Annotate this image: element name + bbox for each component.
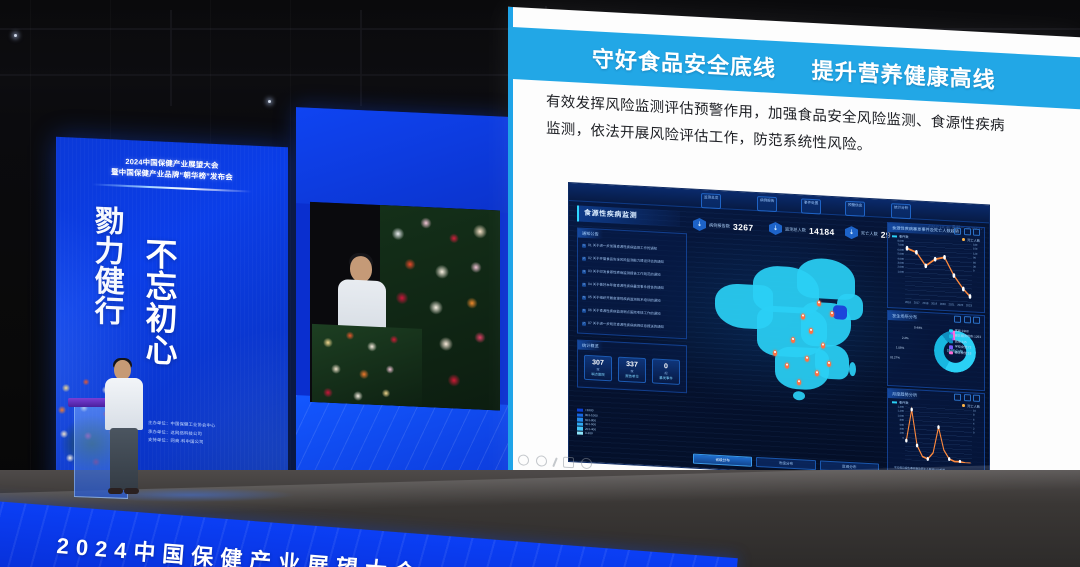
trend-y-axis: 8,000 7,000 6,000 5,000 4,000 3,000 2,00…	[891, 239, 904, 275]
venue-donut-title: 发生场所分布	[888, 311, 921, 322]
notice-panel: 通知公告 101 关于进一步加强食源性疾病监测工作的通知 202 关于开展食品安…	[577, 227, 687, 339]
trend-point	[934, 257, 937, 262]
stat-label-0: 哨点医院	[585, 371, 611, 378]
dashboard-title: 食源性疾病监测	[577, 205, 680, 226]
legend-line-swatch	[892, 235, 897, 237]
slide-title: 守好食品安全底线 提升营养健康高线	[592, 41, 996, 95]
donut-pct-2: 2.2%	[902, 336, 909, 340]
stat-card-1: 337 家 报告单位	[618, 357, 646, 383]
legend-swatch	[949, 335, 952, 339]
notice-item-text: 04 关于做好本年度食源性疾病暴发事件报告的通知	[588, 282, 664, 290]
monthly-point	[959, 460, 961, 464]
legend-label: 事件数	[899, 400, 909, 406]
map-marker[interactable]	[815, 370, 819, 376]
stat-card-2: 0 起 暴发事件	[652, 358, 680, 384]
trend-line	[907, 248, 970, 296]
kpi-2: ⇣ 死亡人数 29	[845, 226, 891, 241]
y2-tick: 0	[973, 432, 981, 437]
legend-swatch	[577, 427, 583, 431]
eraser-icon[interactable]	[563, 457, 574, 469]
monthly-line-svg	[905, 406, 972, 464]
monthly-point	[916, 443, 918, 447]
map-marker[interactable]	[805, 356, 809, 362]
feed-bouquet	[312, 324, 422, 407]
event-headline-line2: 暨中国保健产业品牌“朝华榜”发布会	[56, 164, 288, 186]
download-icon: ⇣	[769, 222, 782, 236]
speaker-shirt	[105, 378, 143, 430]
pointer-icon[interactable]	[518, 454, 529, 466]
expand-icon[interactable]	[954, 316, 961, 323]
legend-events: 事件数	[892, 399, 909, 405]
monthly-y2-axis: 10 8 6 4 2 0	[973, 410, 981, 437]
dashboard-chip-3[interactable]: 预警信息	[845, 201, 865, 217]
ceiling-truss-post	[170, 10, 172, 106]
feed-speaker-head	[350, 256, 372, 283]
legend-label: 0-200	[585, 431, 593, 436]
legend-dot-swatch	[962, 238, 965, 241]
map-marker[interactable]	[785, 363, 789, 369]
highlighter-icon[interactable]	[552, 457, 558, 467]
notice-item-text: 05 关于组织开展食源性疾病监测技术培训的通知	[588, 295, 661, 303]
x-tick: 2018	[922, 302, 928, 305]
donut-pct-3: 0.44%	[914, 325, 922, 329]
speaker-shoe	[124, 488, 139, 494]
screen-left-edge	[508, 7, 513, 501]
legend-swatch	[577, 408, 583, 412]
banner-line-1: 2024中国保健产业展望大会	[56, 528, 424, 567]
map-region	[815, 344, 849, 380]
map-marker[interactable]	[827, 361, 831, 367]
slide-title-part2: 提升营养健康高线	[812, 58, 996, 93]
venue-donut-legend: 家庭:1968 餐饮服务场所:1293 其他:115 学校食堂:72 集体食堂:…	[949, 328, 981, 357]
map-marker[interactable]	[809, 328, 813, 334]
expand-icon[interactable]	[954, 228, 961, 235]
stat-card-0: 307 家 哨点医院	[584, 355, 612, 381]
map-marker[interactable]	[817, 300, 821, 306]
event-slogan-column-2: 不忘初心	[144, 237, 173, 366]
notice-item-text: 02 关于开展食品安全风险监测能力建设评估的通知	[588, 256, 664, 264]
download-icon: ⇣	[845, 226, 858, 240]
download-icon[interactable]	[973, 229, 980, 236]
notice-item[interactable]: 505 关于组织开展食源性疾病监测技术培训的通知	[582, 294, 682, 305]
headline-divider	[92, 183, 252, 192]
legend-line-swatch	[892, 401, 897, 403]
trend-point	[953, 273, 956, 278]
event-headline-line1: 2024中国保健产业展望大会	[56, 153, 288, 175]
ceiling-light	[14, 34, 17, 37]
notice-item[interactable]: 303 关于印发食源性疾病监测报告工作规范的通知	[582, 268, 682, 279]
stats-panel: 统计概览 307 家 哨点医院 337 家 报告单位 0 起 暴发事件	[577, 339, 687, 393]
map-region-hainan	[793, 391, 805, 401]
donut-pct-0: 31.27%	[890, 355, 900, 360]
event-slogan-column-1: 勠力健行	[92, 204, 120, 325]
monthly-point	[910, 408, 912, 412]
event-headline: 2024中国保健产业展望大会 暨中国保健产业品牌“朝华榜”发布会	[56, 153, 288, 186]
organizer-line-2: 承办单位：这网络科技公司	[148, 427, 215, 439]
x-tick: 2021	[949, 303, 955, 306]
x-tick: 2022	[957, 304, 963, 307]
map-legend: >1000 801-1000 601-800 401-600 201-400 0…	[577, 408, 598, 437]
refresh-icon[interactable]	[964, 316, 971, 323]
stat-label-2: 暴发事件	[653, 374, 679, 381]
dashboard-chip-2[interactable]: 事件处置	[801, 198, 821, 214]
trend-line-svg	[905, 240, 972, 303]
legend-deaths: 死亡人数	[962, 237, 980, 243]
legend-events: 事件数	[892, 233, 909, 239]
legend-dot-swatch	[962, 404, 965, 407]
y-tick: 1,000	[891, 270, 904, 275]
trend-plot-area	[905, 240, 972, 303]
dashboard-chip-4[interactable]: 统计分析	[891, 203, 911, 219]
legend-swatch	[949, 340, 952, 344]
chart-tool-icons[interactable]	[954, 394, 980, 402]
map-marker[interactable]	[791, 337, 795, 343]
kpi-1: ⇣ 监测总人数 14184	[769, 222, 835, 238]
download-icon: ⇣	[693, 218, 706, 232]
china-map[interactable]	[697, 246, 885, 416]
conference-stage-photo: 2024中国保健产业展望大会 暨中国保健产业品牌“朝华榜”发布会 勠力健行 不忘…	[0, 0, 1080, 567]
legend-deaths: 死亡人数	[962, 403, 980, 409]
speaker-trousers	[110, 428, 138, 490]
x-tick: 2019	[931, 302, 937, 305]
trend-point	[943, 255, 946, 260]
trend-point	[906, 246, 909, 251]
monthly-line	[906, 409, 970, 463]
map-tab-city[interactable]: 市级分布	[756, 457, 815, 470]
map-marker[interactable]	[821, 342, 825, 348]
center-led-panel	[296, 107, 508, 497]
monthly-y-axis: 1,400 1,200 1,000 800 600 400 200 0	[891, 405, 904, 441]
banner-line-2: 暨中国保健产业品牌	[19, 561, 264, 567]
kpi-label-0: 病例报告数	[709, 222, 730, 229]
kpi-label-2: 死亡人数	[861, 230, 878, 237]
legend-label: 集体食堂:18	[955, 350, 972, 356]
map-tab-province[interactable]: 省级分布	[693, 454, 752, 467]
legend-swatch	[949, 345, 952, 349]
refresh-icon[interactable]	[964, 394, 971, 401]
kpi-label-1: 监测总人数	[785, 226, 806, 233]
dashboard-chip-0[interactable]: 监测总览	[701, 193, 721, 209]
legend-label: 事件数	[899, 234, 909, 240]
notice-item-text: 01 关于进一步加强食源性疾病监测工作的通知	[588, 243, 657, 251]
stats-panel-header: 统计概览	[578, 340, 603, 350]
legend-swatch	[577, 413, 583, 417]
chart-tool-icons[interactable]	[954, 228, 980, 236]
trend-y2-axis: 180 150 120 90 60 30 0	[973, 244, 981, 275]
notice-item[interactable]: 202 关于开展食品安全风险监测能力建设评估的通知	[582, 255, 682, 266]
legend-swatch	[949, 329, 952, 333]
notice-item[interactable]: 404 关于做好本年度食源性疾病暴发事件报告的通知	[582, 281, 682, 292]
notice-item[interactable]: 606 关于食源性疾病监测哨点医院考核工作的通知	[582, 307, 682, 318]
refresh-icon[interactable]	[964, 228, 971, 235]
legend-swatch	[577, 418, 583, 422]
monthly-point	[905, 439, 907, 443]
x-tick: 2020	[940, 303, 946, 306]
monthly-chart-panel: 月度趋势分析 事件数 死亡人数 1,400 1,200 1,000 800 60…	[887, 388, 985, 477]
notice-item-text: 03 关于印发食源性疾病监测报告工作规范的通知	[588, 269, 661, 277]
trend-point	[969, 294, 972, 299]
trend-point	[962, 287, 965, 292]
map-marker[interactable]	[801, 313, 805, 319]
x-tick: 2016	[905, 301, 911, 304]
map-marker[interactable]	[773, 350, 777, 356]
expand-icon[interactable]	[954, 394, 961, 401]
monthly-plot-area	[905, 406, 972, 464]
organizer-line-3: 支持单位：网商·科中国公司	[148, 436, 215, 448]
legend-swatch	[577, 431, 583, 435]
speaker-head	[114, 360, 131, 380]
download-icon[interactable]	[973, 395, 980, 402]
map-marker[interactable]	[797, 379, 801, 385]
trend-chart-panel: 食源性疾病暴发事件及死亡人数趋势 事件数 死亡人数 8,000 7,000 6,…	[887, 222, 985, 313]
kpi-value-0: 3267	[733, 221, 754, 232]
stat-label-1: 报告单位	[619, 373, 645, 380]
live-camera-feed	[310, 202, 500, 411]
legend-swatch	[577, 422, 583, 426]
map-marker[interactable]	[830, 311, 834, 317]
y-tick: 0	[891, 436, 904, 441]
organizer-line-1: 主办单位：中国保健工业协会中心	[148, 419, 215, 431]
ceiling-truss-post	[360, 10, 362, 106]
legend-label: 死亡人数	[967, 237, 980, 243]
ceiling-light	[268, 100, 271, 103]
monthly-point	[948, 457, 950, 461]
venue-donut-panel: 发生场所分布 场所分布 31.27% 1.55% 2.2% 0.44% 家庭:1…	[887, 310, 985, 391]
legend-swatch	[949, 351, 952, 355]
x-tick: 2017	[914, 301, 920, 304]
map-region-taiwan	[849, 362, 856, 376]
pen-icon[interactable]	[536, 455, 547, 467]
projection-screen: 守好食品安全底线 提升营养健康高线 有效发挥风险监测评估预警作用，加强食品安全风…	[508, 7, 1080, 531]
notice-item-text: 06 关于食源性疾病监测哨点医院考核工作的通知	[588, 308, 661, 316]
organizer-credits: 主办单位：中国保健工业协会中心 承办单位：这网络科技公司 支持单位：网商·科中国…	[148, 419, 215, 448]
chart-tool-icons[interactable]	[954, 316, 980, 324]
kpi-0: ⇣ 病例报告数 3267	[693, 218, 753, 234]
menu-icon[interactable]	[581, 458, 592, 470]
y2-tick: 0	[973, 270, 981, 275]
trend-point	[924, 263, 927, 268]
download-icon[interactable]	[973, 317, 980, 324]
slide-title-part1: 守好食品安全底线	[592, 46, 776, 81]
legend-label: 死亡人数	[967, 403, 980, 409]
notice-item[interactable]: 707 关于进一步规范食源性疾病病例信息报送的通知	[582, 320, 682, 331]
kpi-value-1: 14184	[809, 225, 835, 236]
monthly-chart-title: 月度趋势分析	[888, 389, 921, 400]
notice-item-text: 07 关于进一步规范食源性疾病病例信息报送的通知	[588, 321, 664, 329]
dashboard-chip-1[interactable]: 病例报告	[757, 196, 777, 212]
trend-point	[915, 250, 918, 255]
notice-panel-header: 通知公告	[578, 228, 603, 238]
notice-item[interactable]: 101 关于进一步加强食源性疾病监测工作的通知	[582, 242, 682, 253]
donut-pct-1: 1.55%	[896, 345, 904, 349]
speaker-shoe	[108, 488, 123, 494]
map-region-highlight	[833, 305, 847, 320]
stage-speaker	[104, 360, 146, 500]
x-tick: 2023	[966, 304, 972, 307]
dashboard-screenshot: 监测总览 病例报告 事件处置 预警信息 统计分析 2023-10-30 星期一 …	[568, 182, 990, 484]
led-top-band	[296, 107, 508, 213]
